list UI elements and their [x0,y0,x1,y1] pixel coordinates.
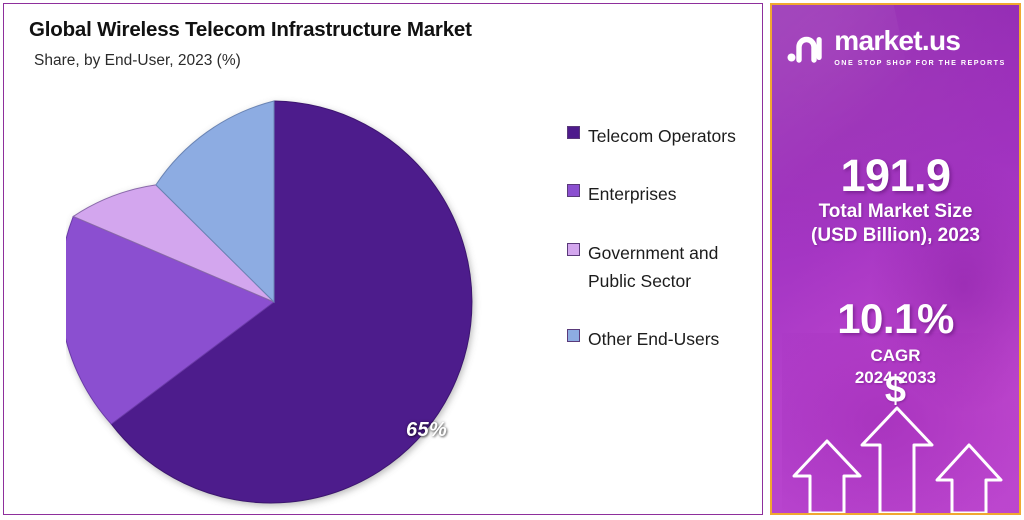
cagr-value: 10.1% [772,295,1019,343]
legend-item-enterprises[interactable]: Enterprises [567,180,763,208]
pie-slices [66,101,472,503]
pie-chart: 65% [66,94,486,514]
legend-swatch-icon [567,243,580,256]
market-us-logo-icon [785,27,825,67]
legend-swatch-icon [567,329,580,342]
legend-swatch-icon [567,126,580,139]
chart-legend: Telecom Operators Enterprises Government… [567,122,763,354]
legend-item-label: Telecom Operators [588,122,736,150]
arrow-up-center [862,408,932,513]
brand-logo[interactable]: market.us ONE STOP SHOP FOR THE REPORTS [772,27,1019,67]
legend-item-label: Other End-Users [588,325,719,353]
page-title: Global Wireless Telecom Infrastructure M… [29,18,472,42]
legend-item-label: Enterprises [588,180,677,208]
chart-subtitle: Share, by End-User, 2023 (%) [34,52,241,70]
growth-arrows-graphic: $ [772,363,1019,513]
pie-chart-svg [66,94,486,514]
brand-panel: market.us ONE STOP SHOP FOR THE REPORTS … [770,3,1021,515]
infographic-canvas: Global Wireless Telecom Infrastructure M… [0,0,1024,520]
market-size-value: 191.9 [772,150,1019,202]
legend-item-government-public-sector[interactable]: Government and Public Sector [567,239,763,296]
legend-swatch-icon [567,184,580,197]
legend-item-other-end-users[interactable]: Other End-Users [567,325,763,353]
arrow-up-right [937,445,1001,513]
brand-tagline: ONE STOP SHOP FOR THE REPORTS [834,58,1005,67]
dollar-sign-icon: $ [772,369,1019,412]
brand-name: market.us [834,27,960,55]
market-size-caption: Total Market Size(USD Billion), 2023 [772,200,1019,249]
pie-slice-data-label: 65% [406,419,447,442]
legend-item-telecom-operators[interactable]: Telecom Operators [567,122,763,150]
chart-panel: Global Wireless Telecom Infrastructure M… [3,3,763,515]
arrow-up-left [794,441,860,513]
legend-item-label: Government and Public Sector [588,239,763,296]
